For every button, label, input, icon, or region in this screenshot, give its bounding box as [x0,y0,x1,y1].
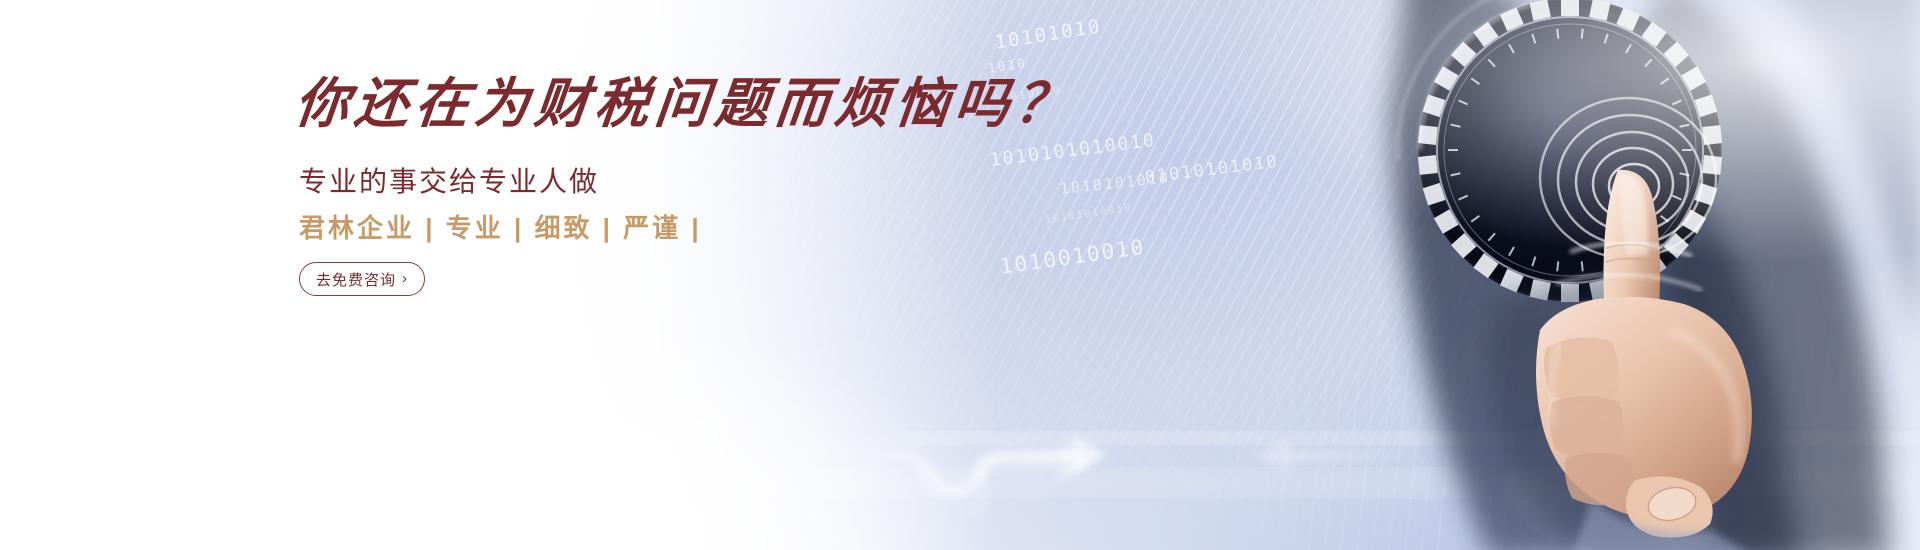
hero-tagline: 君林企业 | 专业 | 细致 | 严谨 | [299,208,702,245]
hero-subtitle: 专业的事交给专业人做 [299,160,599,200]
page-title: 你还在为财税问题而烦恼吗？ [292,74,1078,133]
hero-copy-block: 你还在为财税问题而烦恼吗？ 专业的事交给专业人做 君林企业 | 专业 | 细致 … [295,0,995,550]
free-consultation-button[interactable]: 去免费咨询 › [299,262,425,296]
cta-label: 去免费咨询 [316,269,396,290]
hero-banner: 10101010 1010 101010010 1010101010010 01… [0,0,1920,550]
chevron-right-icon: › [402,271,408,286]
